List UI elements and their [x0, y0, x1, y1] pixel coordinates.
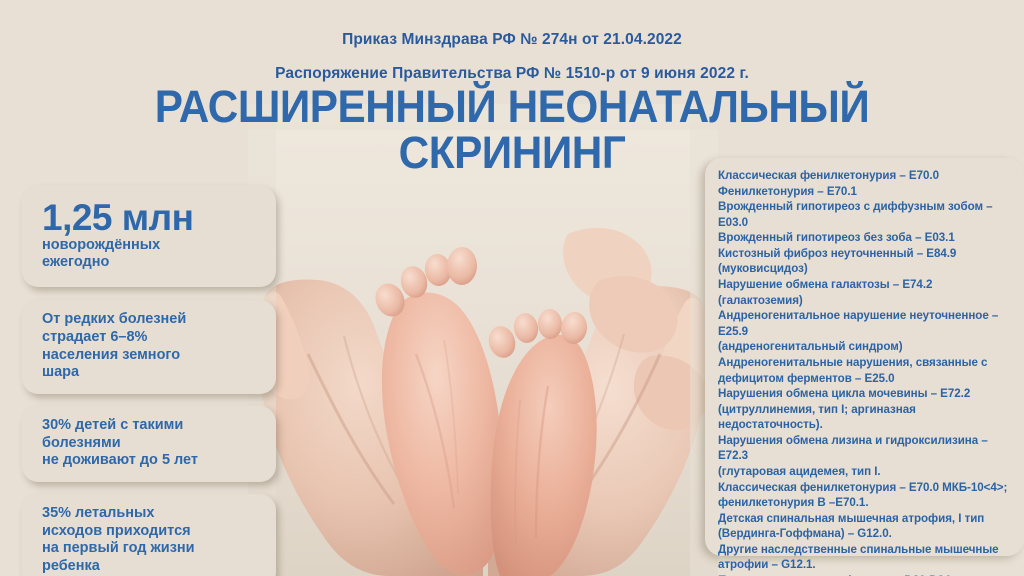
diseases-panel: Классическая фенилкетонурия – E70.0 Фени… — [705, 158, 1024, 556]
disease-item: Другие наследственные спинальные мышечны… — [718, 542, 1016, 573]
diseases-list: Классическая фенилкетонурия – E70.0 Фени… — [718, 168, 1016, 576]
stat-newborns-value: 1,25 млн — [42, 199, 262, 236]
disease-item: Андреногенитальное нарушение неуточненно… — [718, 308, 1016, 355]
order-line-1: Приказ Минздрава РФ № 274н от 21.04.2022 — [0, 30, 1024, 51]
disease-item: Врожденный гипотиреоз с диффузным зобом … — [718, 199, 1016, 230]
stats-column: 1,25 млн новорождённых ежегодно От редки… — [22, 186, 276, 576]
disease-item: Нарушения обмена лизина и гидроксилизина… — [718, 433, 1016, 480]
page-title-line-1: РАСШИРЕННЫЙ НЕОНАТАЛЬНЫЙ — [31, 84, 994, 130]
page-title: РАСШИРЕННЫЙ НЕОНАТАЛЬНЫЙ СКРИНИНГ — [31, 84, 994, 176]
stat-newborns-label: новорождённых ежегодно — [42, 237, 262, 271]
stat-rare-diseases-text: От редких болезней страдает 6–8% населен… — [42, 311, 262, 382]
disease-item: Андреногенитальные нарушения, связанные … — [718, 355, 1016, 386]
stat-lethal-outcomes-text: 35% летальных исходов приходится на перв… — [42, 505, 262, 576]
disease-item: Фенилкетонурия – E70.1 — [718, 184, 1016, 200]
stat-card-survival: 30% детей с такими болезнями не доживают… — [22, 406, 276, 482]
header-block: Приказ Минздрава РФ № 274н от 21.04.2022… — [0, 30, 1024, 85]
stat-card-rare-diseases: От редких болезней страдает 6–8% населен… — [22, 300, 276, 394]
disease-item: Нарушения обмена цикла мочевины – E72.2 … — [718, 386, 1016, 433]
stat-card-lethal-outcomes: 35% летальных исходов приходится на перв… — [22, 494, 276, 576]
disease-item: Детская спинальная мышечная атрофия, I т… — [718, 511, 1016, 542]
slide-root: Приказ Минздрава РФ № 274н от 21.04.2022… — [0, 0, 1024, 576]
disease-item: Классическая фенилкетонурия – E70.0 МКБ-… — [718, 480, 1016, 511]
disease-item: Врожденный гипотиреоз без зоба – E03.1 — [718, 230, 1016, 246]
stat-survival-text: 30% детей с такими болезнями не доживают… — [42, 417, 262, 470]
disease-item: Кистозный фиброз неуточненный – E84.9 (м… — [718, 246, 1016, 277]
disease-item: Нарушение обмена галактозы – E74.2 (гала… — [718, 277, 1016, 308]
stat-card-newborns: 1,25 млн новорождённых ежегодно — [22, 186, 276, 287]
page-title-line-2: СКРИНИНГ — [31, 130, 994, 176]
